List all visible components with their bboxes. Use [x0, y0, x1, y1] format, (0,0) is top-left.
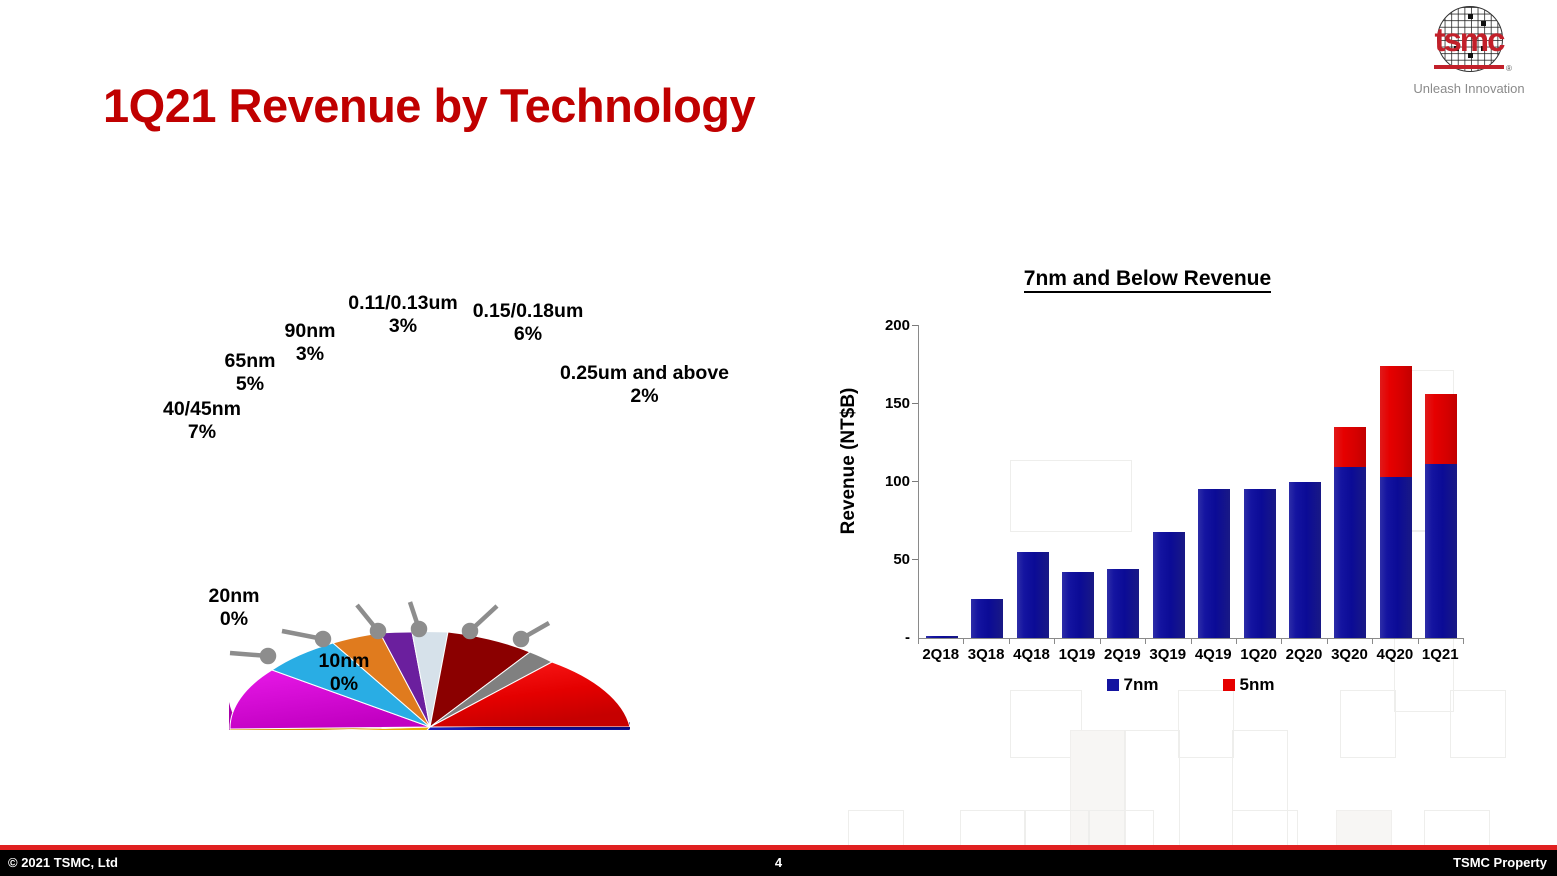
pie-label-7nm: 7nm 35% — [440, 505, 546, 551]
x-tick-mark — [1100, 638, 1101, 644]
bar-segment-7nm — [1062, 572, 1094, 638]
footer-property: TSMC Property — [1453, 855, 1547, 870]
y-tick-label: - — [864, 629, 910, 646]
x-tick-label: 1Q21 — [1414, 646, 1466, 663]
x-tick-mark — [1418, 638, 1419, 644]
logo-underline — [1434, 65, 1504, 69]
legend-swatch — [1223, 679, 1235, 691]
x-tick-label: 3Q19 — [1142, 646, 1194, 663]
bar-column[interactable] — [1017, 552, 1049, 638]
bar-plot-area — [918, 325, 1464, 639]
bar-segment-7nm — [1334, 467, 1366, 638]
x-tick-label: 4Q19 — [1187, 646, 1239, 663]
bar-segment-7nm — [1425, 464, 1457, 638]
x-tick-mark — [918, 638, 919, 644]
y-axis-label: Revenue (NT$B) — [838, 346, 860, 576]
pie-label-65nm: 65nm 5% — [205, 350, 295, 396]
bar-column[interactable] — [1062, 572, 1094, 638]
bar-segment-5nm — [1380, 366, 1412, 477]
watermark-block — [1124, 730, 1180, 846]
bar-column[interactable] — [1107, 569, 1139, 638]
bar-segment-5nm — [1425, 394, 1457, 464]
pie-label-011-013um: 0.11/0.13um 3% — [348, 292, 458, 338]
x-tick-label: 2Q19 — [1096, 646, 1148, 663]
bar-column[interactable] — [1425, 394, 1457, 638]
legend-item-5nm[interactable]: 5nm — [1223, 675, 1275, 695]
logo-tagline: Unleash Innovation — [1409, 81, 1529, 96]
bar-segment-7nm — [1244, 489, 1276, 638]
x-tick-mark — [963, 638, 964, 644]
watermark-block — [1232, 730, 1288, 846]
y-tick-label: 100 — [864, 473, 910, 490]
watermark-block — [1070, 730, 1126, 846]
pie-label-28nm: 28nm 11% — [222, 453, 328, 499]
bar-column[interactable] — [1289, 482, 1321, 639]
bar-column[interactable] — [1244, 489, 1276, 638]
x-tick-mark — [1009, 638, 1010, 644]
x-tick-mark — [1281, 638, 1282, 644]
bar-column[interactable] — [926, 636, 958, 638]
7nm-and-below-revenue-chart: 7nm and Below Revenue Revenue (NT$B) 200… — [820, 255, 1520, 725]
x-tick-label: 4Q18 — [1006, 646, 1058, 663]
bar-column[interactable] — [1334, 427, 1366, 638]
pie-label-025um-and-above: 0.25um and above 2% — [557, 362, 732, 408]
bar-segment-5nm — [1334, 427, 1366, 468]
legend-label: 5nm — [1240, 675, 1275, 694]
y-tick-label: 200 — [864, 317, 910, 334]
x-tick-label: 2Q20 — [1278, 646, 1330, 663]
bar-segment-7nm — [1153, 532, 1185, 638]
bar-segment-7nm — [1107, 569, 1139, 638]
bar-segment-7nm — [971, 599, 1003, 638]
legend-label: 7nm — [1124, 675, 1159, 694]
x-tick-label: 1Q20 — [1233, 646, 1285, 663]
bar-column[interactable] — [1380, 366, 1412, 638]
page-title: 1Q21 Revenue by Technology — [103, 78, 755, 133]
bar-column[interactable] — [1153, 532, 1185, 638]
x-tick-label: 1Q19 — [1051, 646, 1103, 663]
bar-segment-7nm — [1017, 552, 1049, 638]
bar-column[interactable] — [1198, 489, 1230, 638]
x-tick-mark — [1191, 638, 1192, 644]
x-tick-label: 3Q18 — [960, 646, 1012, 663]
bar-chart-title: 7nm and Below Revenue — [820, 267, 1475, 291]
registered-mark: ® — [1506, 64, 1512, 73]
logo-wordmark: tsmc — [1426, 23, 1512, 56]
pie-label-16nm: 16nm 14% — [268, 508, 374, 554]
x-tick-label: 4Q20 — [1369, 646, 1421, 663]
bar-segment-7nm — [1289, 482, 1321, 639]
y-tick-label: 150 — [864, 395, 910, 412]
x-tick-mark — [1236, 638, 1237, 644]
x-tick-mark — [1327, 638, 1328, 644]
y-tick-label: 50 — [864, 551, 910, 568]
x-tick-mark — [1372, 638, 1373, 644]
pie-label-015-018um: 0.15/0.18um 6% — [468, 300, 588, 346]
bar-chart-legend: 7nm5nm — [918, 675, 1463, 695]
bar-segment-7nm — [1198, 489, 1230, 638]
legend-item-7nm[interactable]: 7nm — [1107, 675, 1159, 695]
pie-label-10nm: 10nm 0% — [290, 650, 398, 696]
x-tick-mark — [1145, 638, 1146, 644]
x-tick-mark — [1463, 638, 1464, 644]
pie-label-5nm: 5nm 14% — [485, 422, 591, 468]
x-tick-mark — [1054, 638, 1055, 644]
revenue-by-technology-pie-chart: 0.11/0.13um 3% 90nm 3% 65nm 5% 40/45nm 7… — [0, 250, 780, 730]
bar-segment-7nm — [1380, 477, 1412, 638]
pie-label-40-45nm: 40/45nm 7% — [142, 398, 262, 444]
logo-mark: tsmc ® — [1426, 6, 1512, 78]
x-tick-label: 2Q18 — [915, 646, 967, 663]
tsmc-logo: tsmc ® Unleash Innovation — [1409, 6, 1529, 96]
footer-page-number: 4 — [0, 855, 1557, 870]
slide-canvas: 1Q21 Revenue by Technology tsmc ® Unleas… — [0, 0, 1557, 876]
slide-footer: © 2021 TSMC, Ltd 4 TSMC Property — [0, 845, 1557, 876]
pie-label-20nm: 20nm 0% — [180, 585, 288, 631]
x-tick-label: 3Q20 — [1323, 646, 1375, 663]
legend-swatch — [1107, 679, 1119, 691]
bar-column[interactable] — [971, 599, 1003, 638]
bar-segment-7nm — [926, 636, 958, 638]
